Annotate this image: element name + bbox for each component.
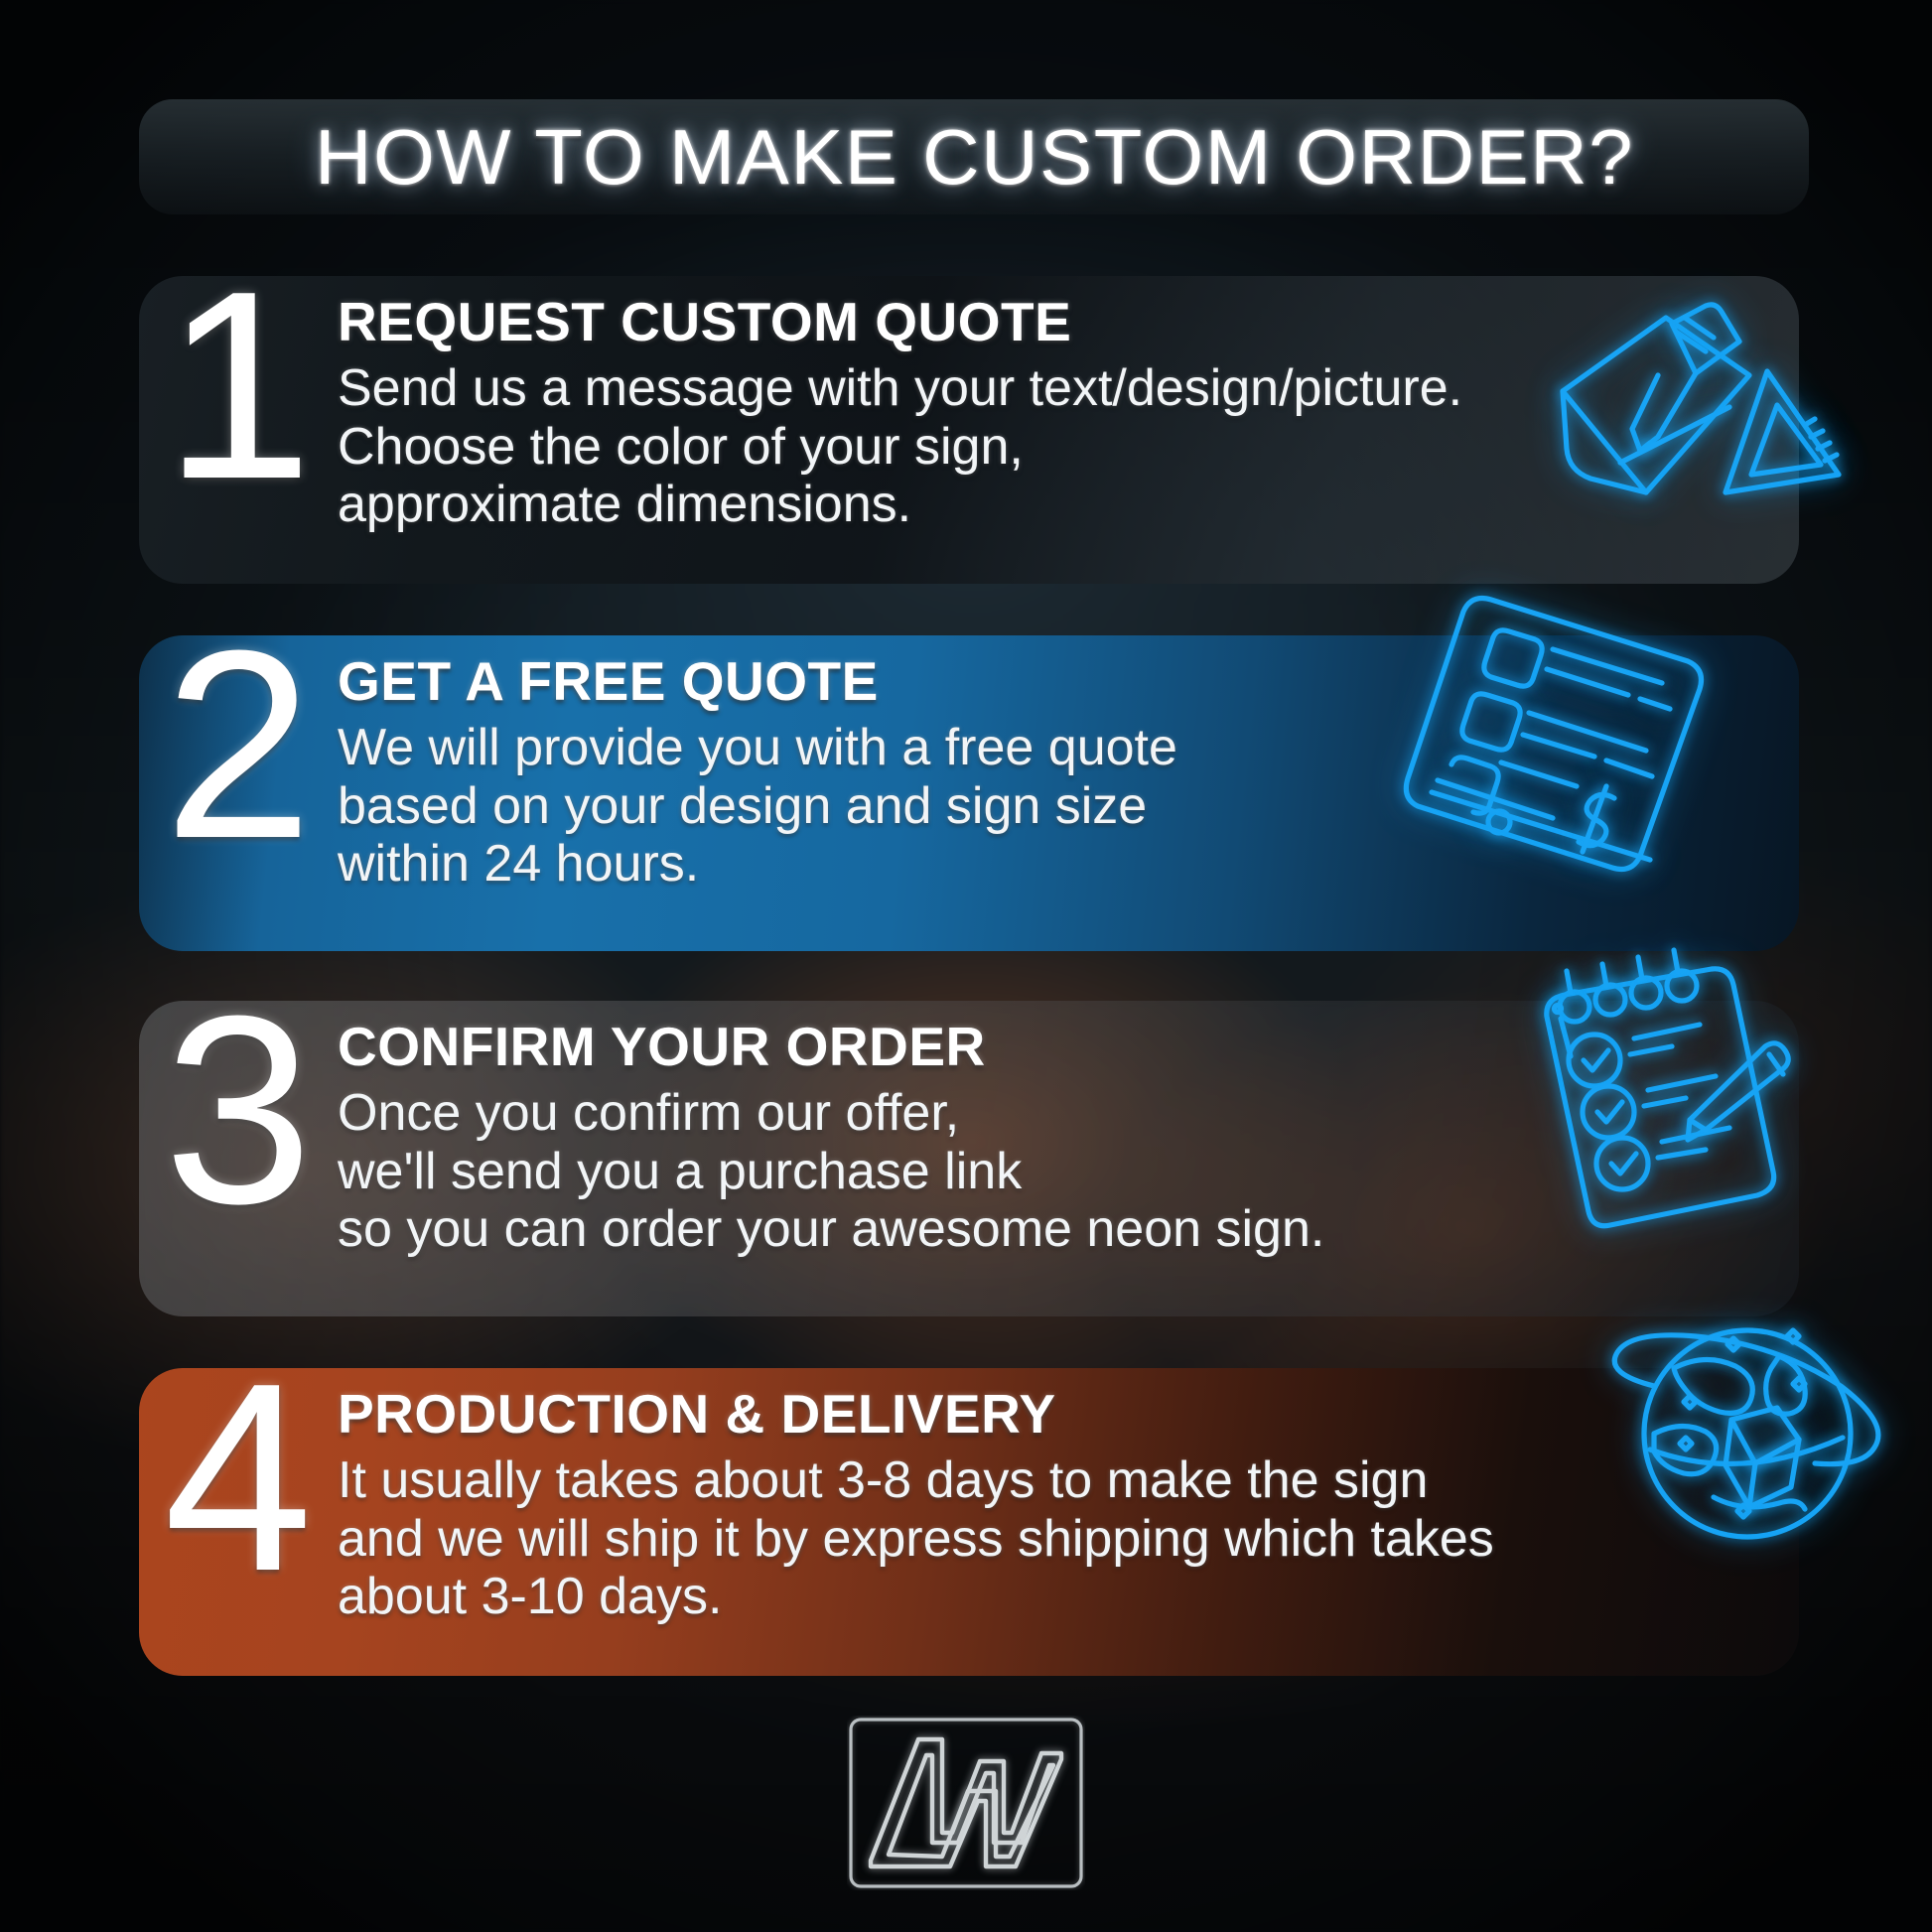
step-title-1: REQUEST CUSTOM QUOTE <box>338 294 1799 351</box>
step-number-2: 2 <box>139 641 338 851</box>
header-panel: HOW TO MAKE CUSTOM ORDER? <box>139 99 1809 214</box>
step-number-1: 1 <box>139 282 338 491</box>
step-card-2: 2 GET A FREE QUOTE We will provide you w… <box>139 635 1799 951</box>
step-card-4: 4 PRODUCTION & DELIVERY It usually takes… <box>139 1368 1799 1676</box>
step-content-1: REQUEST CUSTOM QUOTE Send us a message w… <box>338 276 1799 534</box>
step-description-2: We will provide you with a free quote ba… <box>338 719 1799 894</box>
step-content-3: CONFIRM YOUR ORDER Once you confirm our … <box>338 1001 1799 1259</box>
infographic-canvas: HOW TO MAKE CUSTOM ORDER? 1 REQUEST CUST… <box>0 0 1932 1932</box>
step-content-2: GET A FREE QUOTE We will provide you wit… <box>338 635 1799 894</box>
step-title-3: CONFIRM YOUR ORDER <box>338 1019 1799 1076</box>
ln-monogram-neon-logo <box>847 1716 1085 1890</box>
step-card-1: 1 REQUEST CUSTOM QUOTE Send us a message… <box>139 276 1799 584</box>
step-description-4: It usually takes about 3-8 days to make … <box>338 1451 1799 1626</box>
step-title-4: PRODUCTION & DELIVERY <box>338 1386 1799 1444</box>
step-number-3: 3 <box>139 1007 338 1216</box>
step-content-4: PRODUCTION & DELIVERY It usually takes a… <box>338 1368 1799 1626</box>
step-description-3: Once you confirm our offer, we'll send y… <box>338 1084 1799 1259</box>
step-number-4: 4 <box>139 1374 338 1584</box>
step-title-2: GET A FREE QUOTE <box>338 653 1799 711</box>
page-title: HOW TO MAKE CUSTOM ORDER? <box>314 118 1633 196</box>
step-description-1: Send us a message with your text/design/… <box>338 359 1799 534</box>
step-card-3: 3 CONFIRM YOUR ORDER Once you confirm ou… <box>139 1001 1799 1316</box>
